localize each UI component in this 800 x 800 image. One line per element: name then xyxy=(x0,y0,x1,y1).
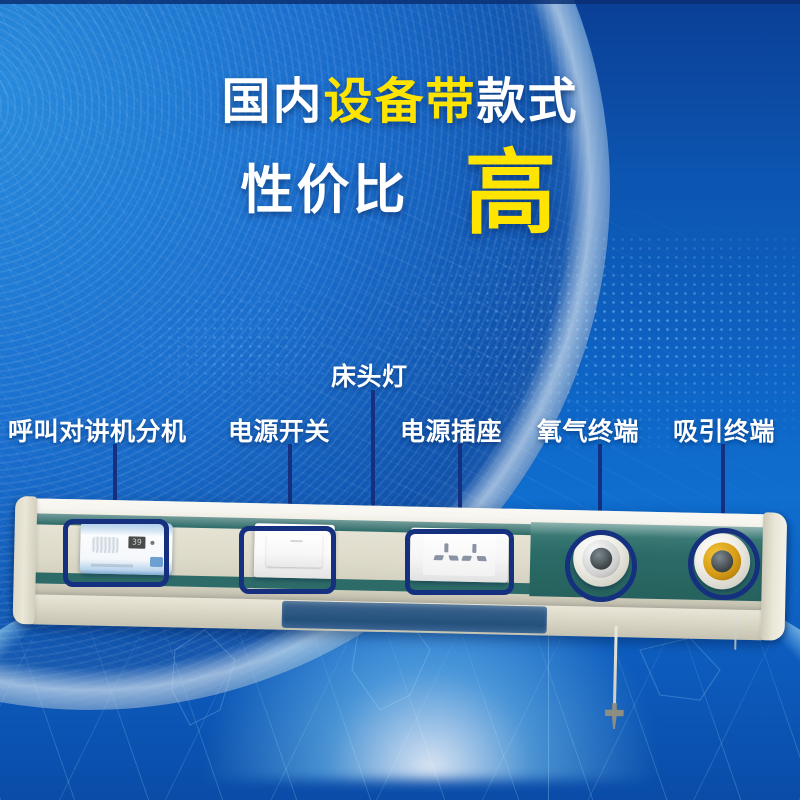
highlight-circle-suction xyxy=(688,528,760,600)
headline-block: 国内设备带款式 性价比 高 xyxy=(0,78,800,232)
highlight-box-switch xyxy=(239,526,336,594)
top-edge-bar xyxy=(0,0,800,4)
highlight-circle-oxygen xyxy=(565,530,637,602)
headline-highlight: 设备带 xyxy=(323,75,476,129)
rail-endcap-left xyxy=(13,496,38,624)
headline-value-text: 性价比 xyxy=(240,164,408,217)
callout-label-oxygen: 氧气终端 xyxy=(537,412,639,448)
bedhead-lamp-cover[interactable] xyxy=(282,601,548,634)
headline-part-2: 款式 xyxy=(477,75,579,129)
promo-banner: 国内设备带款式 性价比 高 呼叫对讲机分机 电源开关 床头灯 电源插座 氧气终端… xyxy=(0,0,800,800)
headline-big-char: 高 xyxy=(464,153,559,236)
callout-label-switch: 电源开关 xyxy=(228,412,330,448)
callout-label-bedlamp: 床头灯 xyxy=(331,357,408,393)
callout-label-socket: 电源插座 xyxy=(400,412,502,448)
highlight-box-intercom xyxy=(63,519,169,587)
headline-line-1: 国内设备带款式 xyxy=(0,78,800,127)
callout-label-intercom: 呼叫对讲机分机 xyxy=(8,412,187,448)
rail-endcap-right xyxy=(760,512,787,640)
callout-label-suction: 吸引终端 xyxy=(673,412,775,448)
highlight-box-socket xyxy=(405,529,514,595)
headline-line-2: 性价比 高 xyxy=(0,149,800,232)
headline-part-1: 国内 xyxy=(221,75,323,129)
